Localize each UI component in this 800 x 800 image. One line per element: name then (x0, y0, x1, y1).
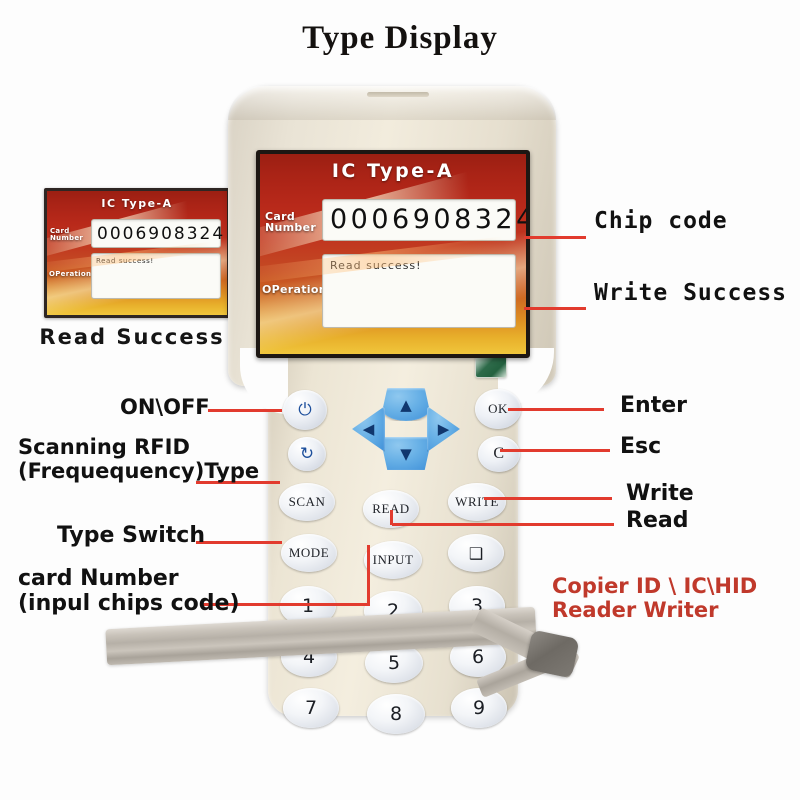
inset-caption-read-success: Read Success (32, 325, 232, 349)
key-8[interactable]: 8 (367, 694, 425, 734)
leader-line-read-v (390, 510, 393, 525)
device-top-slot (367, 92, 429, 97)
write-button[interactable]: WRITE (448, 483, 506, 521)
square-button[interactable]: ❑ (448, 534, 504, 572)
label-esc: Esc (620, 435, 661, 460)
label-card-number: card Number (inpul chips code) (18, 567, 240, 616)
leader-line-read-h (392, 523, 614, 526)
label-type-switch: Type Switch (57, 524, 205, 549)
inset-card-number-value: 0006908324 (97, 224, 225, 244)
label-write: Write (626, 482, 694, 507)
leader-line-card-number-v (367, 545, 370, 606)
mode-button[interactable]: MODE (281, 534, 337, 572)
input-button[interactable]: INPUT (364, 541, 422, 579)
screen-operation-value: Read success! (330, 259, 422, 272)
device-screen: IC Type-A CardNumber OPeration 000690832… (256, 150, 530, 358)
scan-button[interactable]: SCAN (279, 483, 335, 521)
screen-label-card-number: CardNumber (265, 211, 316, 233)
leader-line-esc (500, 449, 610, 452)
key-9[interactable]: 9 (451, 688, 507, 728)
screen-card-number-value: 0006908324 (330, 204, 530, 235)
leader-line-write-success (524, 307, 586, 310)
leader-line-on-off (208, 409, 282, 412)
power-button[interactable]: ⏻ (283, 390, 327, 430)
inset-operation-box (91, 253, 221, 299)
key-7[interactable]: 7 (283, 688, 339, 728)
page-title: Type Display (0, 20, 800, 57)
leader-line-chip-code (524, 236, 586, 239)
label-scanning-rfid: Scanning RFID (Frequequency)Type (18, 436, 259, 483)
screen-surface: IC Type-A CardNumber OPeration 000690832… (260, 154, 526, 354)
clear-button[interactable]: C (478, 436, 520, 472)
label-chip-code: Chip code (594, 209, 728, 235)
label-on-off: ON\OFF (120, 396, 210, 420)
dpad-right-button[interactable]: ▶ (427, 406, 460, 452)
inset-screen-surface: IC Type-A CardNumber OPeration 000690832… (47, 191, 227, 315)
label-enter: Enter (620, 394, 687, 419)
screen-label-operation: OPeration (262, 284, 327, 295)
dpad[interactable]: ▲ ▼ ◀ ▶ (352, 388, 460, 470)
label-read: Read (626, 509, 688, 534)
label-product-tagline: Copier ID \ IC\HID Reader Writer (552, 574, 757, 622)
inset-operation-value: Read success! (96, 257, 154, 265)
dpad-down-button[interactable]: ▼ (380, 437, 432, 470)
dpad-up-button[interactable]: ▲ (380, 388, 432, 421)
leader-line-enter (508, 408, 604, 411)
inset-screenshot: IC Type-A CardNumber OPeration 000690832… (44, 188, 230, 318)
screen-title: IC Type-A (260, 160, 526, 182)
inset-screen-title: IC Type-A (47, 197, 227, 210)
leader-line-type-switch (196, 541, 282, 544)
inset-label-card-number: CardNumber (50, 228, 83, 242)
screenshot-canvas: Type Display IC Type-A CardNumber OPerat… (0, 0, 800, 800)
back-button[interactable]: ↻ (288, 437, 326, 471)
dpad-left-button[interactable]: ◀ (352, 406, 385, 452)
label-write-success: Write Success (594, 281, 787, 307)
inset-label-operation: OPeration (49, 271, 91, 278)
leader-line-write (484, 497, 612, 500)
